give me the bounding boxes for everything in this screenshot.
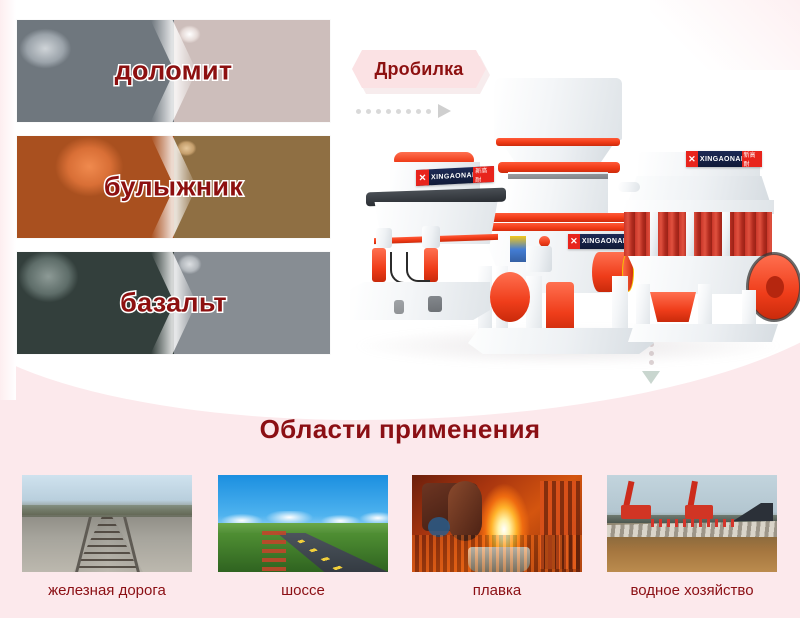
right-fin-post-c: [722, 212, 730, 256]
material-panel-cobblestone: булыжник: [17, 136, 330, 238]
background-topright-tint: [650, 0, 800, 70]
right-cooling-fins: [624, 212, 772, 256]
left-cylinder-a: [376, 228, 392, 248]
center-flange-ring-a: [478, 213, 638, 222]
left-cylinder-b: [422, 226, 440, 248]
left-base-slot-b: [394, 300, 404, 314]
material-image-crushed-dolomite: [174, 20, 331, 122]
brand-logo-left: ✕ XINGAONAI 新高耐: [416, 166, 494, 186]
center-motor-bracket: [526, 246, 552, 272]
left-hydraulic-a: [372, 248, 386, 282]
center-base-frame: [468, 328, 654, 354]
center-hopper: [494, 78, 622, 140]
material-image-crushed-cobblestone: [174, 136, 331, 238]
right-discharge-hopper: [650, 292, 696, 322]
application-image-smelting: [412, 475, 582, 572]
brand-text: XINGAONAI: [698, 156, 742, 163]
center-warning-plate: [510, 236, 526, 262]
center-hopper-ring: [496, 138, 620, 146]
center-flange-ring-b: [478, 223, 638, 232]
right-fin-post-b: [686, 212, 694, 256]
application-image-highway: [218, 475, 388, 572]
brand-text: XINGAONAI: [580, 238, 624, 245]
background-left-tint: [0, 0, 16, 400]
promo-banner: доломит булыжник базальт Дробилка: [0, 0, 800, 618]
brand-logo-right: ✕ XINGAONAI 新高耐: [686, 151, 762, 167]
brand-text: XINGAONAI: [429, 172, 473, 181]
material-image-raw-basalt: [17, 252, 174, 354]
material-image-crushed-basalt: [174, 252, 331, 354]
application-caption-highway: шоссе: [208, 582, 398, 599]
brand-mark-icon: ✕: [416, 169, 429, 186]
center-bolt-row-upper: [508, 174, 608, 179]
left-hose-b: [406, 252, 430, 282]
material-panel-basalt: базальт: [17, 252, 330, 354]
left-base-frame: [350, 282, 490, 320]
page-title: Области применения: [0, 414, 800, 445]
application-image-water-conservancy: [607, 475, 777, 572]
application-image-railway: [22, 475, 192, 572]
right-shoulder: [628, 176, 770, 202]
material-image-raw-dolomite: [17, 20, 174, 122]
material-panel-dolomite: доломит: [17, 20, 330, 122]
application-caption-smelting: плавка: [402, 582, 592, 599]
left-base-slot-a: [428, 296, 442, 312]
application-caption-water-conservancy: водное хозяйство: [597, 582, 787, 599]
brand-mark-icon: ✕: [686, 151, 698, 167]
brand-cn-text: 新高耐: [473, 166, 494, 183]
center-shaft-column: [546, 282, 574, 334]
crusher-machine-illustration: ✕ XINGAONAI 新高耐 ✕ XINGAONAI 新高耐: [350, 70, 800, 390]
brand-mark-icon: ✕: [568, 234, 580, 249]
right-base-frame: [628, 324, 778, 342]
application-caption-railway: железная дорога: [12, 582, 202, 599]
right-fin-post-a: [650, 212, 658, 256]
center-flywheel: [490, 272, 530, 322]
brand-cn-text: 新高耐: [742, 151, 762, 167]
material-image-raw-cobblestone: [17, 136, 174, 238]
right-flywheel-hub: [766, 276, 784, 298]
right-nozzle: [618, 182, 640, 192]
